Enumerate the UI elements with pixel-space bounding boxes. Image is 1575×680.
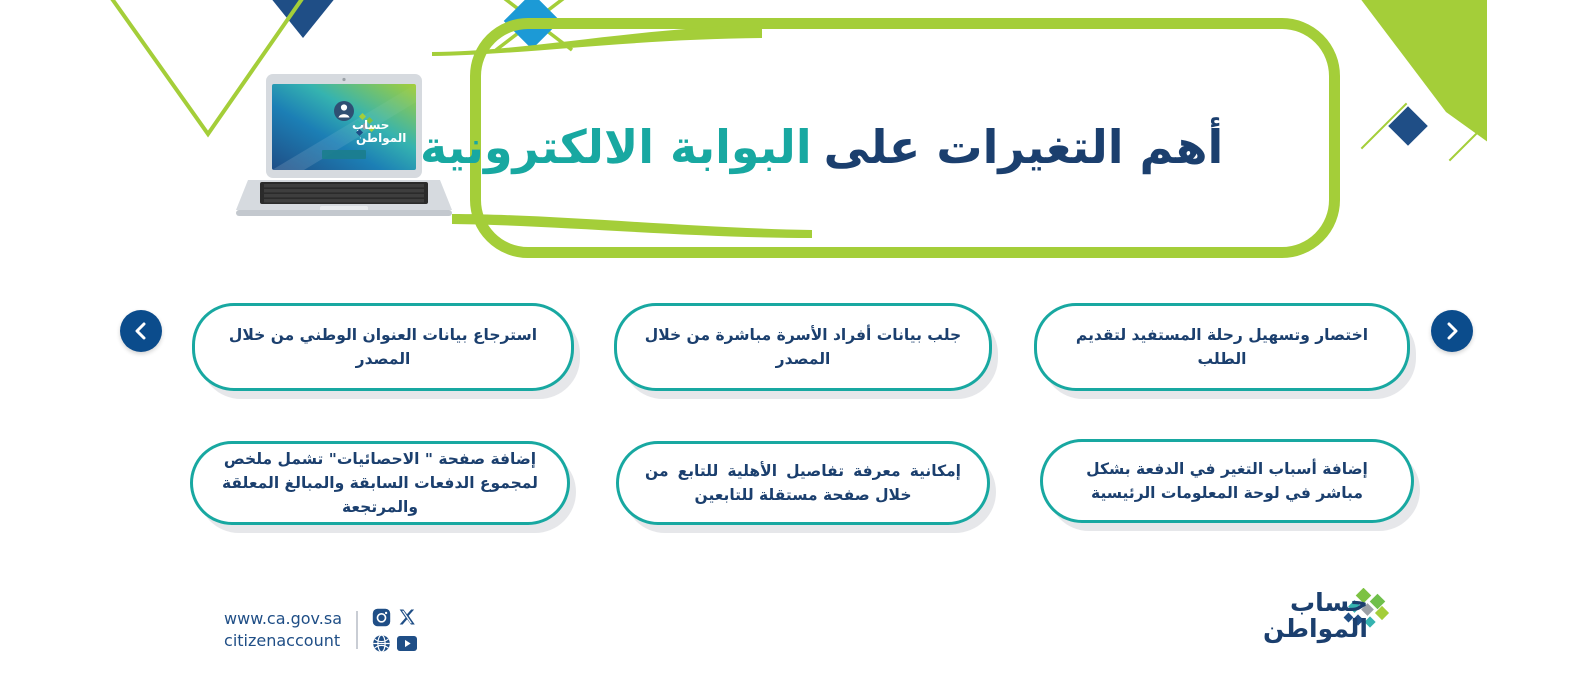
brand-line-1: حساب bbox=[1263, 590, 1368, 616]
footer-links: www.ca.gov.sa citizenaccount bbox=[224, 608, 342, 651]
social-icon-group bbox=[370, 606, 418, 654]
youtube-icon[interactable] bbox=[396, 632, 418, 654]
navy-diamond-decoration bbox=[1388, 106, 1428, 146]
feature-card[interactable]: استرجاع بيانات العنوان الوطني من خلال ال… bbox=[192, 303, 574, 391]
page-title-part1: أهم التغيرات على bbox=[824, 120, 1224, 174]
canvas-edge-bottom bbox=[0, 672, 1575, 680]
brand-wordmark: حساب المواطن bbox=[1263, 590, 1368, 641]
feature-card[interactable]: إمكانية معرفة تفاصيل الأهلية للتابع من خ… bbox=[616, 441, 990, 525]
feature-card[interactable]: اختصار وتسهيل رحلة المستفيد لتقديم الطلب bbox=[1034, 303, 1410, 391]
feature-card-text: جلب بيانات أفراد الأسرة مباشرة من خلال ا… bbox=[643, 323, 963, 371]
website-url[interactable]: www.ca.gov.sa bbox=[224, 608, 342, 630]
page-title-part2: البوابة الالكترونية bbox=[420, 120, 812, 174]
green-swoosh-bottom bbox=[452, 200, 812, 238]
svg-text:حساب: حساب bbox=[352, 118, 389, 132]
feature-card-text: استرجاع بيانات العنوان الوطني من خلال ال… bbox=[221, 323, 545, 371]
blue-diamond-decoration bbox=[504, 0, 561, 49]
feature-card-text: اختصار وتسهيل رحلة المستفيد لتقديم الطلب bbox=[1063, 323, 1381, 371]
globe-icon[interactable] bbox=[370, 632, 392, 654]
canvas-edge-right bbox=[1487, 0, 1575, 680]
social-handle[interactable]: citizenaccount bbox=[224, 630, 342, 652]
feature-card[interactable]: إضافة صفحة " الاحصائيات" تشمل ملخص لمجمو… bbox=[190, 441, 570, 525]
green-x-decoration bbox=[492, 0, 576, 54]
infographic-canvas: حساب المواطن أهم التغيرات على البوابة ال… bbox=[0, 0, 1575, 680]
feature-card[interactable]: إضافة أسباب التغير في الدفعة بشكل مباشر … bbox=[1040, 439, 1414, 523]
feature-card-text: إضافة أسباب التغير في الدفعة بشكل مباشر … bbox=[1069, 457, 1385, 505]
page-title: أهم التغيرات على البوابة الالكترونية bbox=[420, 108, 1280, 186]
green-swoosh-top bbox=[432, 22, 762, 56]
svg-text:المواطن: المواطن bbox=[356, 131, 406, 146]
citizen-account-logo: حساب المواطن bbox=[1262, 588, 1402, 650]
green-line-decoration-1 bbox=[1361, 103, 1408, 150]
navy-triangle-decoration bbox=[245, 0, 361, 38]
x-twitter-icon[interactable] bbox=[396, 606, 418, 628]
brand-line-2: المواطن bbox=[1263, 616, 1368, 642]
footer-contact-block: www.ca.gov.sa citizenaccount bbox=[178, 606, 418, 654]
footer-divider bbox=[356, 611, 358, 649]
feature-card-text: إضافة صفحة " الاحصائيات" تشمل ملخص لمجمو… bbox=[219, 447, 541, 519]
instagram-icon[interactable] bbox=[370, 606, 392, 628]
feature-card[interactable]: جلب بيانات أفراد الأسرة مباشرة من خلال ا… bbox=[614, 303, 992, 391]
canvas-edge-left bbox=[0, 0, 10, 680]
feature-card-grid: استرجاع بيانات العنوان الوطني من خلال ال… bbox=[0, 298, 1575, 548]
feature-card-text: إمكانية معرفة تفاصيل الأهلية للتابع من خ… bbox=[645, 459, 961, 507]
